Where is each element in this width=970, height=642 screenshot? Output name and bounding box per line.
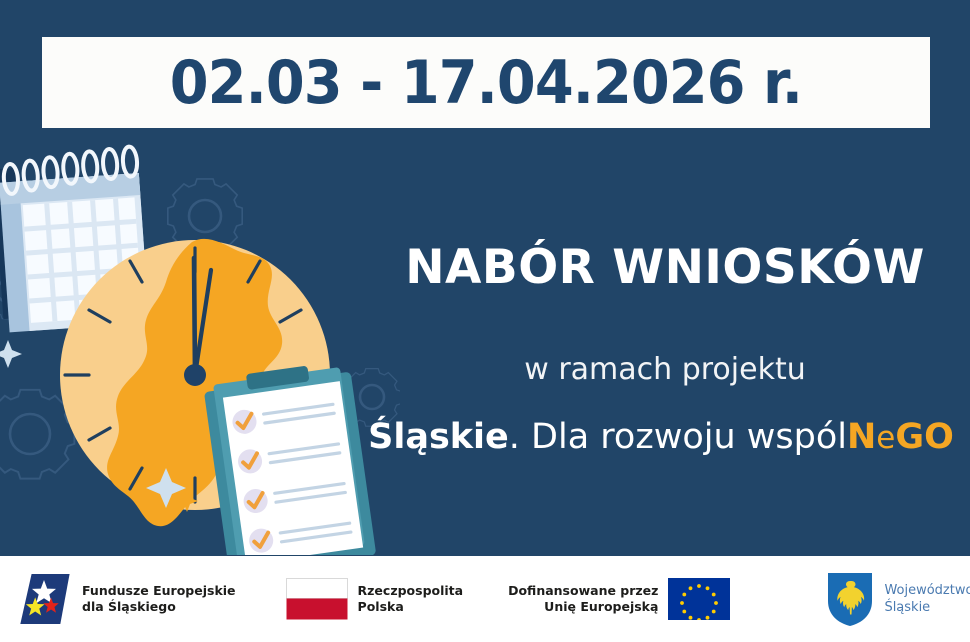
eu-funds-logo-icon bbox=[18, 570, 72, 628]
slogan-accent-n: N bbox=[847, 417, 876, 457]
date-range-text: 02.03 - 17.04.2026 r. bbox=[170, 48, 802, 118]
slogan-brand: Śląskie bbox=[368, 417, 509, 457]
eu-caption: Dofinansowane przez Unię Europejską bbox=[508, 583, 658, 616]
clock-center-pin bbox=[184, 364, 206, 386]
project-slogan: Śląskie. Dla rozwoju wspólNeGO bbox=[352, 418, 970, 457]
poland-logo-block: Rzeczpospolita Polska bbox=[286, 578, 464, 620]
promotional-poster: 02.03 - 17.04.2026 r. bbox=[0, 0, 970, 642]
eu-funds-logo-block: Fundusze Europejskie dla Śląskiego bbox=[18, 570, 236, 628]
poland-line-1: Rzeczpospolita bbox=[358, 583, 464, 600]
illustration-graphic bbox=[0, 130, 400, 555]
slogan-accent-go: GO bbox=[895, 417, 953, 457]
voivodeship-line-2: Śląskie bbox=[884, 599, 970, 616]
poland-flag-icon bbox=[286, 578, 348, 620]
voivodeship-caption: Województwo Śląskie bbox=[884, 582, 970, 616]
eu-line-1: Dofinansowane przez bbox=[508, 583, 658, 600]
subtitle: w ramach projektu bbox=[360, 352, 970, 387]
voivodeship-logo-block: Województwo Śląskie bbox=[826, 571, 970, 627]
date-banner: 02.03 - 17.04.2026 r. bbox=[42, 37, 930, 128]
clipboard-checklist-icon bbox=[202, 360, 376, 555]
funding-logo-strip: Fundusze Europejskie dla Śląskiego Rzecz… bbox=[0, 556, 970, 642]
eu-funds-line-1: Fundusze Europejskie bbox=[82, 583, 236, 600]
eu-line-2: Unię Europejską bbox=[508, 599, 658, 616]
eu-funds-caption: Fundusze Europejskie dla Śląskiego bbox=[82, 583, 236, 616]
poland-caption: Rzeczpospolita Polska bbox=[358, 583, 464, 616]
voivodeship-line-1: Województwo bbox=[884, 582, 970, 599]
poland-line-2: Polska bbox=[358, 599, 464, 616]
eu-logo-block: Dofinansowane przez Unię Europejską bbox=[508, 578, 730, 620]
silesia-coat-of-arms-icon bbox=[826, 571, 874, 627]
clock-minute-hand bbox=[194, 258, 195, 375]
slogan-text: . Dla rozwoju wspól bbox=[509, 417, 847, 457]
eu-funds-line-2: dla Śląskiego bbox=[82, 599, 236, 616]
page-title: NABÓR WNIOSKÓW bbox=[360, 240, 970, 295]
eu-flag-icon bbox=[668, 578, 730, 620]
slogan-accent-e: e bbox=[876, 420, 895, 456]
